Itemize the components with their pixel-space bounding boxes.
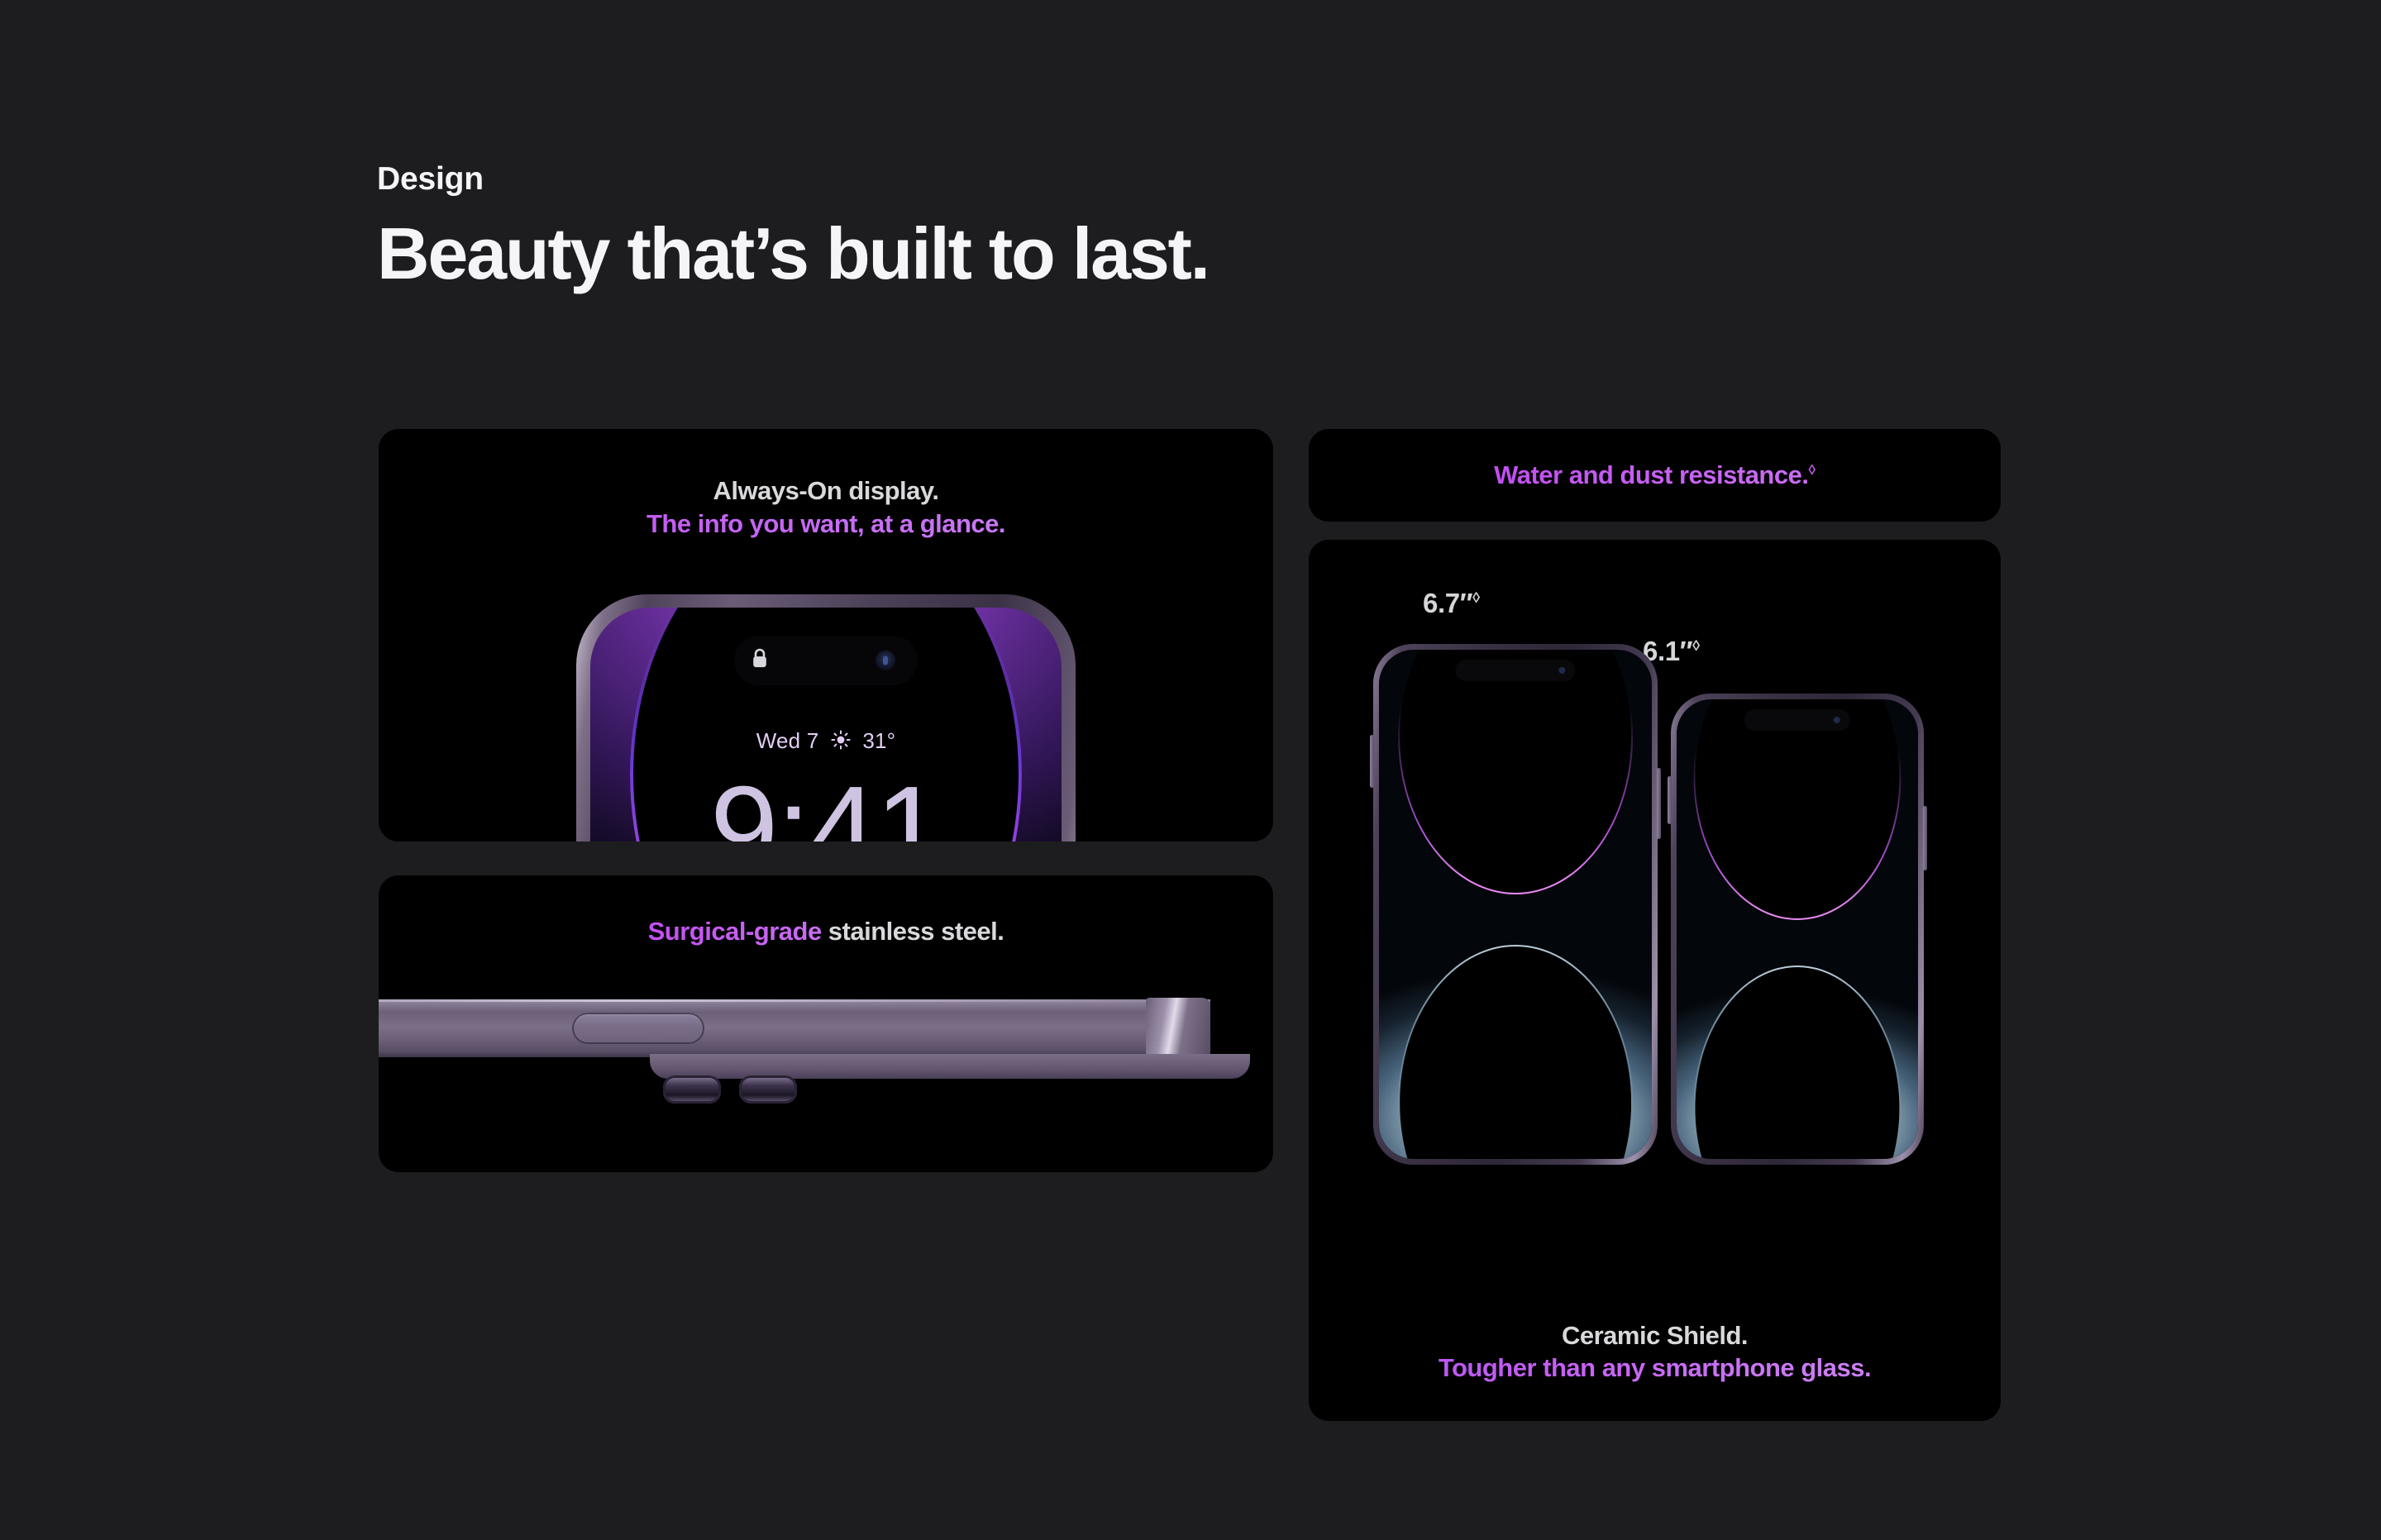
always-on-caption: Always-On display. The info you want, at… <box>379 474 1273 540</box>
card-stainless-steel[interactable]: Surgical-grade stainless steel. <box>379 875 1273 1172</box>
camera-bump <box>650 1054 1250 1079</box>
dynamic-island <box>1455 660 1575 681</box>
ceramic-shield-caption-line2: Tougher than any smartphone glass. <box>1309 1352 2001 1385</box>
size-label-67-unit: ″ <box>1460 588 1472 618</box>
side-button <box>1657 768 1661 839</box>
lock-screen-date: Wed 7 <box>756 728 819 753</box>
left-column: Always-On display. The info you want, at… <box>379 429 1273 1172</box>
water-dust-footnote-marker: ◊ <box>1808 462 1815 478</box>
size-label-61-unit: ″ <box>1680 636 1692 666</box>
iphone-lock-screen-mockup: Wed 7 <box>576 594 1076 842</box>
stainless-steel-caption: Surgical-grade stainless steel. <box>379 915 1273 948</box>
ceramic-shield-caption: Ceramic Shield. Tougher than any smartph… <box>1309 1319 2001 1385</box>
phone-screen: Wed 7 <box>590 608 1062 842</box>
camera-lens-1 <box>663 1075 721 1104</box>
phone-corner-edge <box>1146 998 1210 1057</box>
phone-screen <box>1379 650 1652 1159</box>
section-eyebrow: Design <box>377 162 1209 198</box>
stainless-steel-caption-rest: stainless steel. <box>822 917 1004 946</box>
iphone-pro-mockup <box>1671 694 1924 1165</box>
phone-screen <box>1677 699 1918 1159</box>
page-title: Beauty that’s built to last. <box>377 216 1209 292</box>
size-label-61-footnote: ◊ <box>1692 637 1700 654</box>
size-label-67: 6.7″◊ <box>1423 588 1480 619</box>
iphone-pro-max-mockup <box>1373 644 1658 1165</box>
always-on-caption-line1: Always-On display. <box>379 474 1273 508</box>
camera-lens-2 <box>739 1075 797 1104</box>
water-dust-caption: Water and dust resistance.◊ <box>1494 459 1816 492</box>
sun-icon <box>831 730 851 756</box>
volume-buttons <box>1370 735 1374 788</box>
right-column: Water and dust resistance.◊ 6.7″◊ 6.1″◊ <box>1309 429 2001 1421</box>
volume-buttons <box>1668 776 1672 824</box>
water-dust-caption-text: Water and dust resistance. <box>1494 460 1808 489</box>
lock-screen-clock: 9:41 <box>590 753 1062 842</box>
side-button <box>1923 806 1927 870</box>
lock-screen-temperature: 31° <box>862 728 895 753</box>
phone-side-rail <box>379 999 1210 1057</box>
card-always-on-display[interactable]: Always-On display. The info you want, at… <box>379 429 1273 842</box>
card-water-dust-resistance[interactable]: Water and dust resistance.◊ <box>1309 429 2001 522</box>
ceramic-shield-caption-line1: Ceramic Shield. <box>1309 1319 2001 1352</box>
design-section: Design Beauty that’s built to last. Alwa… <box>0 0 2381 1540</box>
iphone-side-profile-image <box>379 999 1273 1156</box>
size-label-67-value: 6.7 <box>1423 588 1460 618</box>
lock-icon <box>751 648 769 674</box>
card-display-sizes[interactable]: 6.7″◊ 6.1″◊ <box>1309 540 2001 1421</box>
section-header: Design Beauty that’s built to last. <box>377 162 1209 292</box>
size-label-67-footnote: ◊ <box>1472 589 1480 606</box>
lock-screen-date-weather: Wed 7 <box>590 728 1062 756</box>
stainless-steel-caption-highlight: Surgical-grade <box>648 917 822 946</box>
dynamic-island <box>1744 709 1850 731</box>
volume-button <box>572 1013 704 1044</box>
always-on-caption-line2: The info you want, at a glance. <box>379 508 1273 541</box>
dynamic-island <box>734 636 918 685</box>
front-camera-icon <box>876 651 895 670</box>
